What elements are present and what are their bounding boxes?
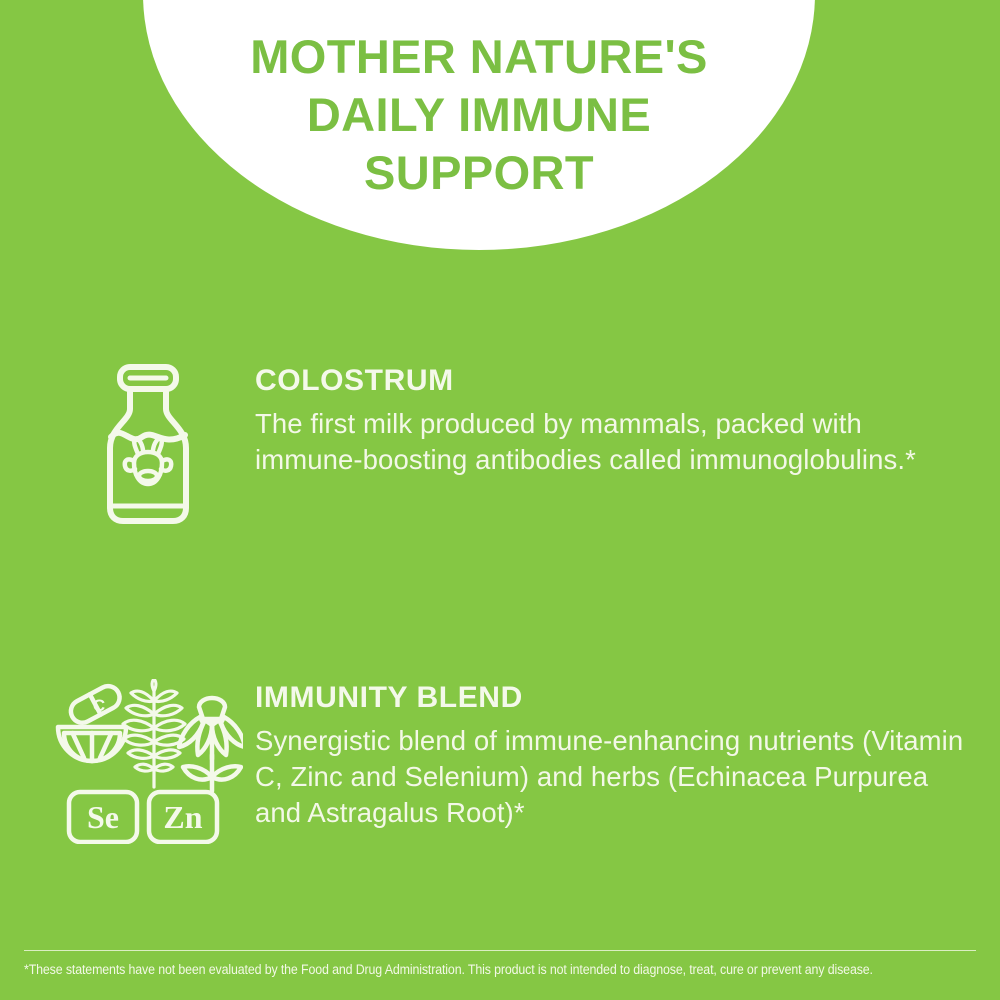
feature-colostrum: COLOSTRUM The first milk produced by mam… — [0, 362, 1000, 527]
footer-divider — [24, 950, 976, 951]
echinacea-flower-icon — [179, 698, 243, 791]
selenium-tile-label: Se — [87, 799, 119, 835]
page-title-line-2: DAILY IMMUNE — [143, 86, 815, 144]
vitamin-c-icon — [58, 682, 126, 761]
immune-support-infographic: MOTHER NATURE'S DAILY IMMUNE SUPPORT — [0, 0, 1000, 1000]
immunity-blend-icon: Se Zn C — [40, 679, 255, 844]
page-title: MOTHER NATURE'S DAILY IMMUNE SUPPORT — [143, 28, 815, 202]
feature-colostrum-heading: COLOSTRUM — [255, 364, 970, 398]
page-title-line-1: MOTHER NATURE'S — [143, 28, 815, 86]
feature-immunity-blend-heading: IMMUNITY BLEND — [255, 681, 970, 715]
feature-immunity-blend-body: Synergistic blend of immune-enhancing nu… — [255, 723, 970, 831]
feature-list: COLOSTRUM The first milk produced by mam… — [0, 300, 1000, 844]
astragalus-sprig-icon — [123, 679, 185, 787]
feature-colostrum-text: COLOSTRUM The first milk produced by mam… — [255, 362, 970, 478]
feature-immunity-blend: Se Zn C IMMUNITY BLEND Synergistic blend… — [0, 679, 1000, 844]
feature-immunity-blend-text: IMMUNITY BLEND Synergistic blend of immu… — [255, 679, 970, 831]
zinc-tile-label: Zn — [163, 799, 202, 835]
footer-disclaimer-text: *These statements have not been evaluate… — [24, 962, 900, 978]
milk-bottle-icon — [40, 362, 255, 527]
vitamin-c-capsule-label: C — [92, 696, 104, 715]
element-tiles: Se Zn — [69, 792, 217, 842]
footer-disclaimer: *These statements have not been evaluate… — [0, 950, 1000, 1000]
page-title-line-3: SUPPORT — [143, 144, 815, 202]
feature-colostrum-body: The first milk produced by mammals, pack… — [255, 406, 970, 478]
